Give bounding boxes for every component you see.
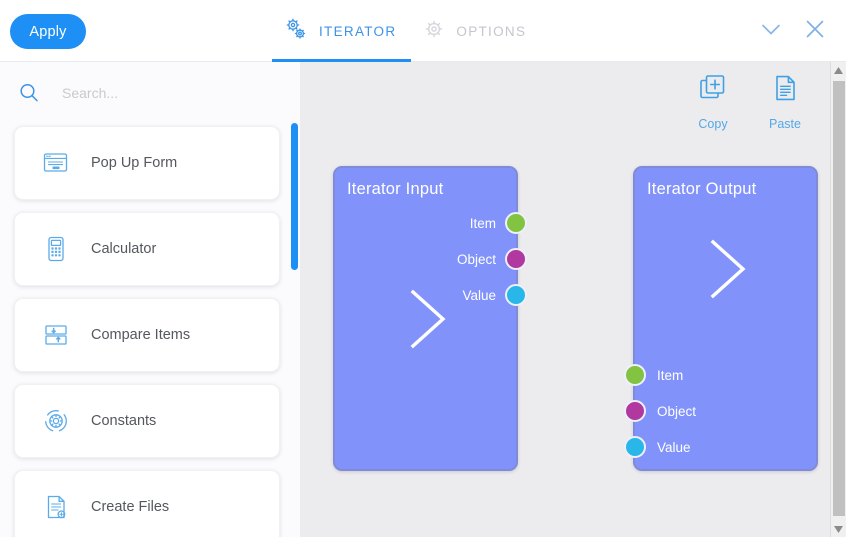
input-port-value[interactable]: Value [624,436,691,458]
port-label: Value [657,440,691,455]
list-item-label: Compare Items [91,327,190,343]
search-bar [0,62,300,124]
component-sidebar: Pop Up Form [0,62,300,537]
canvas-scrollbar[interactable] [830,62,846,537]
node-iterator-output[interactable]: Iterator Output Item Object Value [633,166,818,471]
tab-iterator-label: ITERATOR [319,24,396,39]
window-header: Apply [0,0,846,62]
output-port-object[interactable]: Object [457,248,527,270]
list-item-create-files[interactable]: Create Files [14,470,280,537]
port-label: Object [657,404,696,419]
list-item-calculator[interactable]: Calculator [14,212,280,286]
search-input[interactable] [60,84,264,102]
sidebar-scrollbar-thumb[interactable] [291,123,298,270]
scroll-up-arrow[interactable] [831,62,846,78]
output-port-item[interactable]: Item [470,212,527,234]
port-label: Value [462,288,496,303]
paste-label: Paste [769,117,801,131]
apply-button-label: Apply [29,24,66,40]
output-port-value[interactable]: Value [462,284,527,306]
paste-icon [767,70,803,111]
node-canvas[interactable]: Copy Paste Iterator Input [300,62,846,537]
create-files-icon [33,490,79,524]
chevron-right-icon [635,168,816,469]
input-port-item[interactable]: Item [624,364,683,386]
list-item-compare-items[interactable]: Compare Items [14,298,280,372]
node-iterator-input[interactable]: Iterator Input Item Object Value [333,166,518,471]
list-item-label: Create Files [91,499,169,515]
copy-button[interactable]: Copy [685,70,741,131]
constants-icon [33,404,79,438]
port-dot-value[interactable] [505,284,527,306]
tab-options[interactable]: OPTIONS [411,0,541,62]
compare-items-icon [33,318,79,352]
copy-label: Copy [698,117,727,131]
node-title: Iterator Output [647,180,756,199]
port-label: Item [657,368,683,383]
tab-iterator[interactable]: ITERATOR [272,0,411,62]
port-dot-object[interactable] [624,400,646,422]
list-item-label: Calculator [91,241,156,257]
component-list[interactable]: Pop Up Form [0,124,300,537]
iterator-editor-window: Apply [0,0,846,537]
list-item-constants[interactable]: Constants [14,384,280,458]
port-label: Object [457,252,496,267]
list-item-pop-up-form[interactable]: Pop Up Form [14,126,280,200]
port-dot-value[interactable] [624,436,646,458]
port-label: Item [470,216,496,231]
port-dot-item[interactable] [624,364,646,386]
gears-icon [282,15,310,48]
scroll-down-arrow[interactable] [831,521,846,537]
copy-icon [695,70,731,111]
apply-button[interactable]: Apply [10,14,86,49]
chevron-down-icon[interactable] [756,14,786,44]
node-title: Iterator Input [347,180,443,199]
list-item-label: Pop Up Form [91,155,177,171]
input-port-object[interactable]: Object [624,400,696,422]
window-controls [756,14,830,44]
tab-options-label: OPTIONS [456,24,526,39]
port-dot-item[interactable] [505,212,527,234]
close-icon[interactable] [800,14,830,44]
gear-icon [421,16,447,47]
list-item-label: Constants [91,413,156,429]
canvas-toolbar: Copy Paste [685,70,813,131]
port-dot-object[interactable] [505,248,527,270]
popup-form-icon [33,146,79,180]
canvas-scrollbar-thumb[interactable] [833,81,845,516]
search-icon [16,80,42,106]
calculator-icon [33,232,79,266]
paste-button[interactable]: Paste [757,70,813,131]
tab-bar: ITERATOR OPTIONS [272,0,541,62]
